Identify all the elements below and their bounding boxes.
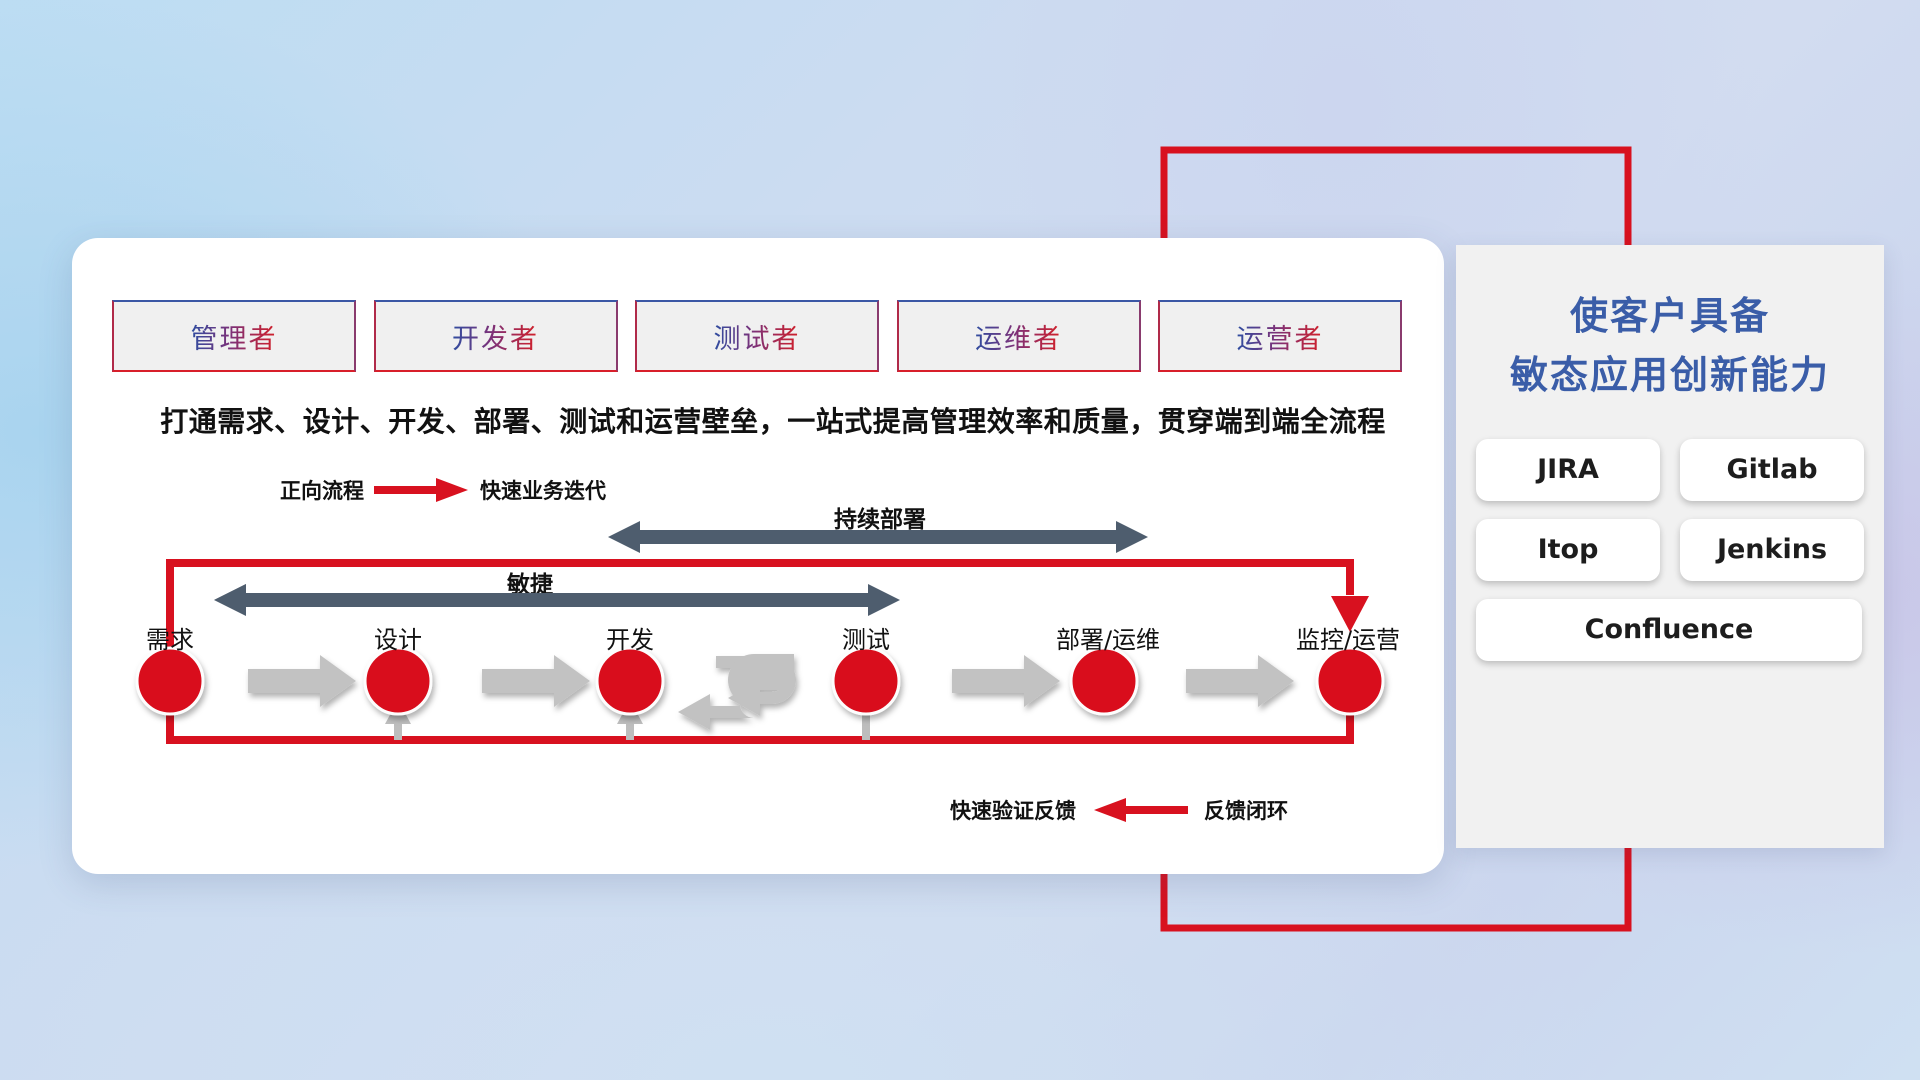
pipeline-graphics	[0, 0, 1920, 1080]
loopback-arrow-icon	[678, 654, 796, 730]
stage-node-requirement[interactable]	[137, 648, 203, 714]
stage-node-testing[interactable]	[833, 648, 899, 714]
continuous-deployment-arrow-icon	[608, 521, 1148, 553]
stage-node-development[interactable]	[597, 648, 663, 714]
stage-node-design[interactable]	[365, 648, 431, 714]
stage-node-deploy-ops[interactable]	[1071, 648, 1137, 714]
stage-label-development: 开发	[606, 620, 654, 655]
stage-label-monitor-operation: 监控/运营	[1296, 620, 1400, 655]
stage-label-deploy-ops: 部署/运维	[1056, 620, 1160, 655]
agile-arrow-icon	[214, 584, 900, 616]
stage-label-testing: 测试	[842, 620, 890, 655]
stage-label-requirement: 需求	[146, 620, 194, 655]
stage-node-monitor-operation[interactable]	[1317, 648, 1383, 714]
stage-label-design: 设计	[374, 620, 422, 655]
